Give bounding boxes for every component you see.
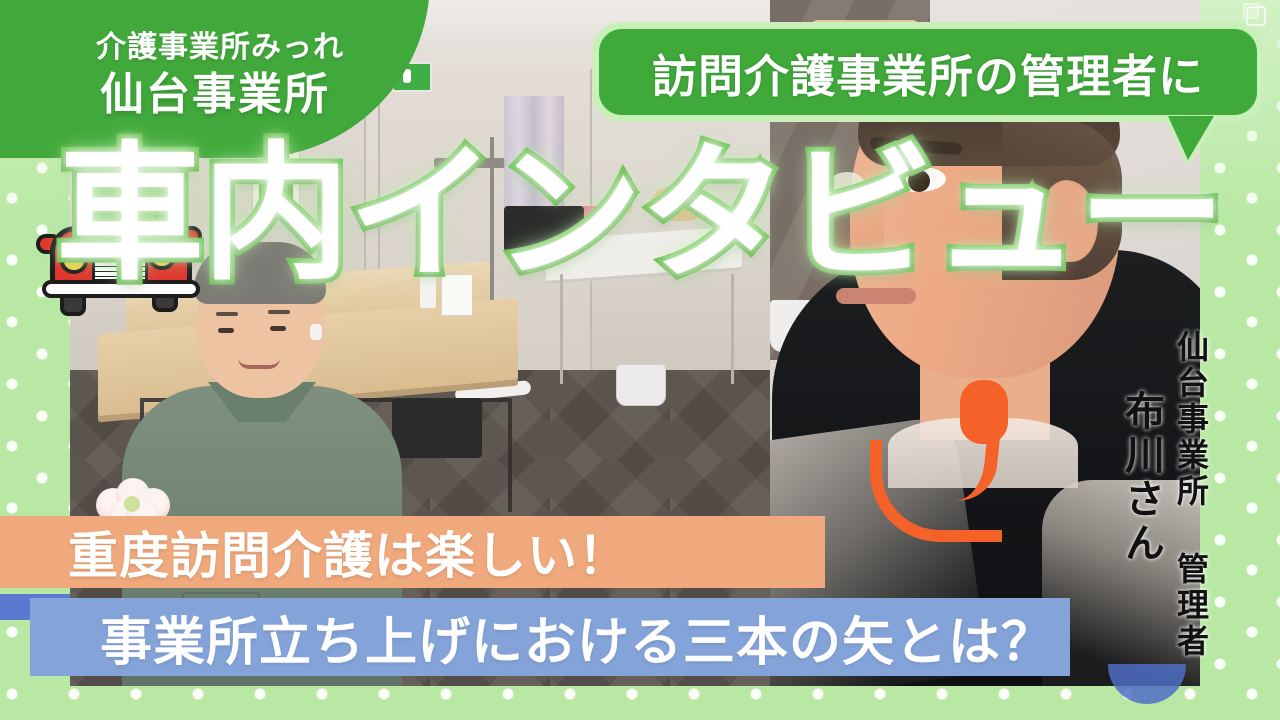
- eye-left: [218, 328, 234, 333]
- blue-banner-text: 事業所立ち上げにおける三本の矢とは？: [100, 600, 1054, 675]
- eyebrow-left: [216, 312, 238, 316]
- youtube-thumbnail: 介護事業所みっれ 仙台事業所 訪問介護事業所の管理者に 車内インタビュー 重度訪…: [0, 0, 1280, 720]
- orange-clip: [960, 380, 1008, 444]
- blue-banner: 事業所立ち上げにおける三本の矢とは？: [30, 598, 1070, 676]
- copy-square-icon: [1246, 6, 1266, 26]
- eye-right: [270, 326, 286, 331]
- white-bucket: [616, 364, 666, 406]
- eyebrow-right: [268, 310, 290, 314]
- main-title: 車内インタビュー: [0, 140, 1280, 288]
- interviewee-name-label: 布川さん: [1112, 390, 1170, 566]
- mouth: [238, 358, 280, 369]
- branch-name-label: 仙台事業所: [50, 58, 380, 122]
- speech-bubble-text: 訪問介護事業所の管理者に: [652, 40, 1204, 105]
- chair: [392, 398, 482, 458]
- earbud-icon: [310, 324, 322, 340]
- interviewee-role-label: 仙台事業所 管理者: [1168, 330, 1214, 660]
- orange-banner-text: 重度訪問介護は楽しい！: [68, 516, 629, 588]
- speech-bubble: 訪問介護事業所の管理者に: [592, 22, 1264, 122]
- flower-center: [124, 496, 140, 512]
- orange-banner: 重度訪問介護は楽しい！: [0, 516, 825, 588]
